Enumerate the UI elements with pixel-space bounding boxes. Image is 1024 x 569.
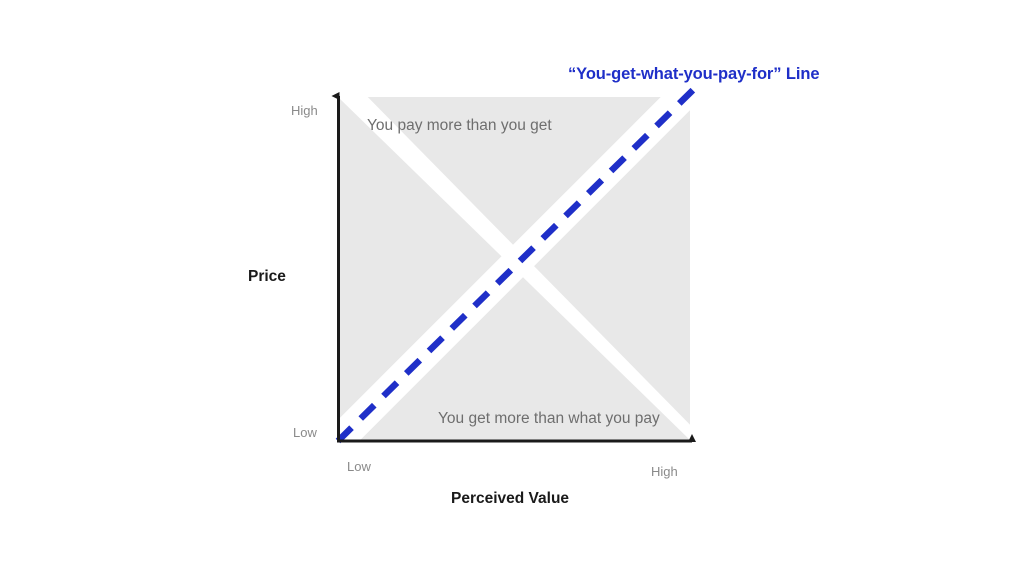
positioning-map-chart: “You-get-what-you-pay-for” Line You pay … [0,0,1024,569]
y-axis-title: Price [248,269,286,285]
x-axis-low-tick-label: Low [347,460,371,473]
region-below-line-label: You get more than what you pay [438,411,660,427]
x-axis-title: Perceived Value [451,491,569,507]
y-axis-high-tick-label: High [291,104,318,117]
line-callout-label: “You-get-what-you-pay-for” Line [568,66,819,83]
x-axis-high-tick-label: High [651,465,678,478]
y-axis-low-tick-label: Low [293,426,317,439]
chart-graphics [0,0,1024,569]
region-above-line-label: You pay more than you get [367,118,552,134]
